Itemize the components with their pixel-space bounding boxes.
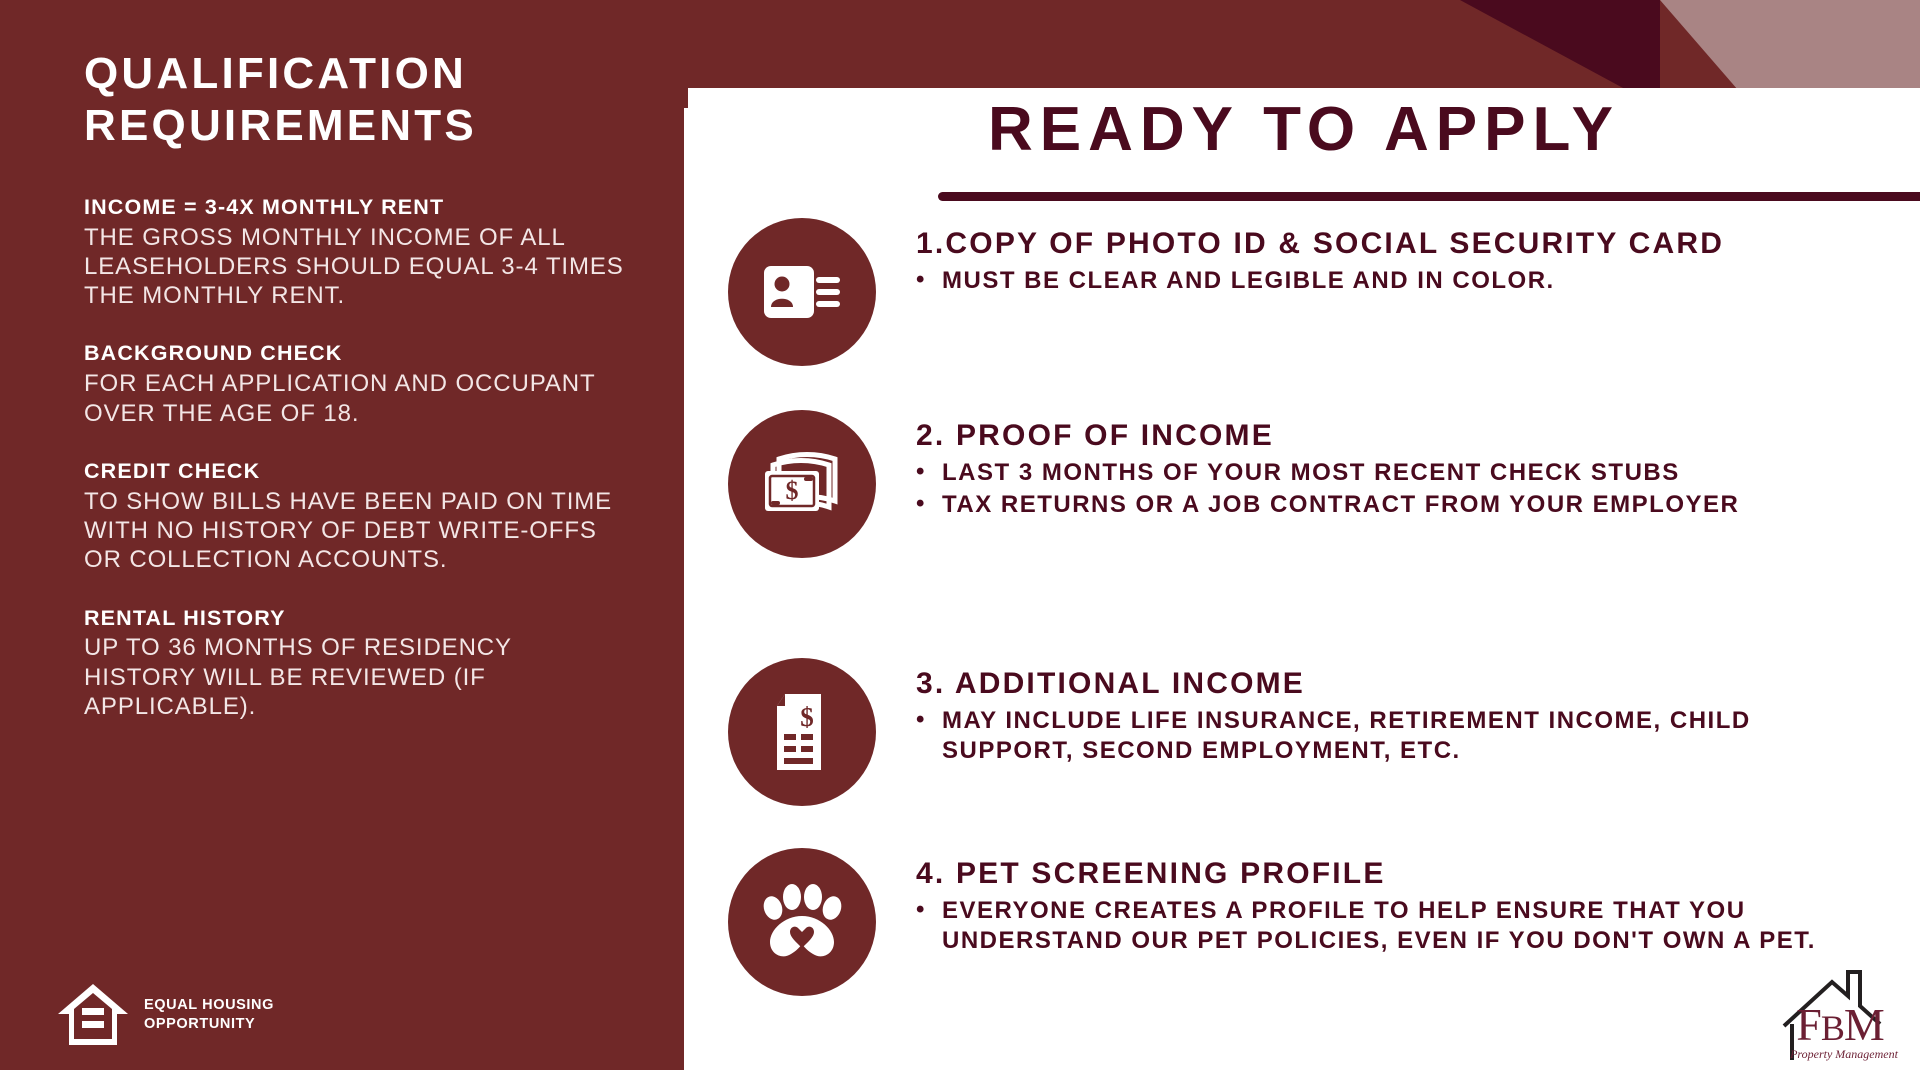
step-bullets: MAY INCLUDE LIFE INSURANCE, RETIREMENT I… [916, 706, 1920, 766]
cash-bills-icon: $ [728, 410, 876, 558]
step-bullets: EVERYONE CREATES A PROFILE TO HELP ENSUR… [916, 896, 1920, 956]
step-body: 3. ADDITIONAL INCOME MAY INCLUDE LIFE IN… [916, 658, 1920, 768]
equal-housing-opportunity-logo: EQUAL HOUSING OPPORTUNITY [56, 982, 274, 1048]
bullet-item: MAY INCLUDE LIFE INSURANCE, RETIREMENT I… [916, 706, 1842, 766]
svg-text:$: $ [800, 702, 814, 732]
requirement-description: UP TO 36 MONTHS OF RESIDENCY HISTORY WIL… [84, 633, 626, 721]
bullet-item: TAX RETURNS OR A JOB CONTRACT FROM YOUR … [916, 490, 1842, 520]
requirements-list: INCOME = 3-4X MONTHLY RENT THE GROSS MON… [84, 194, 626, 721]
bullet-item: MUST BE CLEAR AND LEGIBLE AND IN COLOR. [916, 266, 1842, 296]
requirement-term: INCOME = 3-4X MONTHLY RENT [84, 194, 626, 221]
step-item: 4. PET SCREENING PROFILE EVERYONE CREATE… [688, 848, 1920, 996]
svg-text:FBM: FBM [1796, 999, 1884, 1050]
requirement-description: FOR EACH APPLICATION AND OCCUPANT OVER T… [84, 369, 626, 428]
equal-housing-house-icon [56, 982, 130, 1048]
svg-text:$: $ [786, 476, 799, 505]
step-item: $ 3. ADDITIONAL INCOME MAY INCLUDE LIFE … [688, 658, 1920, 806]
equal-housing-label: EQUAL HOUSING OPPORTUNITY [144, 996, 274, 1033]
step-title: 1.COPY OF PHOTO ID & SOCIAL SECURITY CAR… [916, 226, 1806, 262]
requirement-term: RENTAL HISTORY [84, 605, 626, 632]
paw-heart-icon [728, 848, 876, 996]
requirement-item-background-check: BACKGROUND CHECK FOR EACH APPLICATION AN… [84, 340, 626, 427]
requirement-description: THE GROSS MONTHLY INCOME OF ALL LEASEHOL… [84, 223, 626, 311]
qualification-requirements-panel: QUALIFICATION REQUIREMENTS INCOME = 3-4X… [0, 0, 684, 1070]
step-body: 1.COPY OF PHOTO ID & SOCIAL SECURITY CAR… [916, 218, 1920, 298]
ready-to-apply-panel: READY TO APPLY 1.COPY OF PHOTO I [688, 88, 1920, 1080]
page-title: QUALIFICATION REQUIREMENTS [84, 48, 626, 152]
step-bullets: MUST BE CLEAR AND LEGIBLE AND IN COLOR. [916, 266, 1920, 296]
requirement-description: TO SHOW BILLS HAVE BEEN PAID ON TIME WIT… [84, 487, 626, 575]
headline-underline-rule [938, 192, 1920, 201]
invoice-document-icon: $ [728, 658, 876, 806]
requirement-item-rental-history: RENTAL HISTORY UP TO 36 MONTHS OF RESIDE… [84, 605, 626, 722]
step-title: 2. PROOF OF INCOME [916, 418, 1806, 454]
requirement-term: CREDIT CHECK [84, 458, 626, 485]
id-card-icon [728, 218, 876, 366]
equal-housing-line1: EQUAL HOUSING [144, 997, 274, 1013]
step-item: 1.COPY OF PHOTO ID & SOCIAL SECURITY CAR… [688, 218, 1920, 366]
step-item: $ 2. PROOF OF INCOME LAST 3 MONTHS OF YO… [688, 410, 1920, 558]
headline: READY TO APPLY [988, 96, 1620, 164]
bullet-item: EVERYONE CREATES A PROFILE TO HELP ENSUR… [916, 896, 1842, 956]
step-body: 4. PET SCREENING PROFILE EVERYONE CREATE… [916, 848, 1920, 958]
step-title: 3. ADDITIONAL INCOME [916, 666, 1806, 702]
poster-canvas: QUALIFICATION REQUIREMENTS INCOME = 3-4X… [0, 0, 1920, 1080]
equal-housing-line2: OPPORTUNITY [144, 1016, 255, 1032]
step-body: 2. PROOF OF INCOME LAST 3 MONTHS OF YOUR… [916, 410, 1920, 522]
requirement-item-income: INCOME = 3-4X MONTHLY RENT THE GROSS MON… [84, 194, 626, 311]
step-title: 4. PET SCREENING PROFILE [916, 856, 1806, 892]
svg-text:Property Management: Property Management [1789, 1047, 1899, 1061]
requirement-term: BACKGROUND CHECK [84, 340, 626, 367]
bullet-item: LAST 3 MONTHS OF YOUR MOST RECENT CHECK … [916, 458, 1842, 488]
requirement-item-credit-check: CREDIT CHECK TO SHOW BILLS HAVE BEEN PAI… [84, 458, 626, 575]
step-bullets: LAST 3 MONTHS OF YOUR MOST RECENT CHECK … [916, 458, 1920, 520]
headline-container: READY TO APPLY [688, 96, 1920, 164]
fbm-property-management-logo: FBM Property Management [1774, 964, 1902, 1070]
